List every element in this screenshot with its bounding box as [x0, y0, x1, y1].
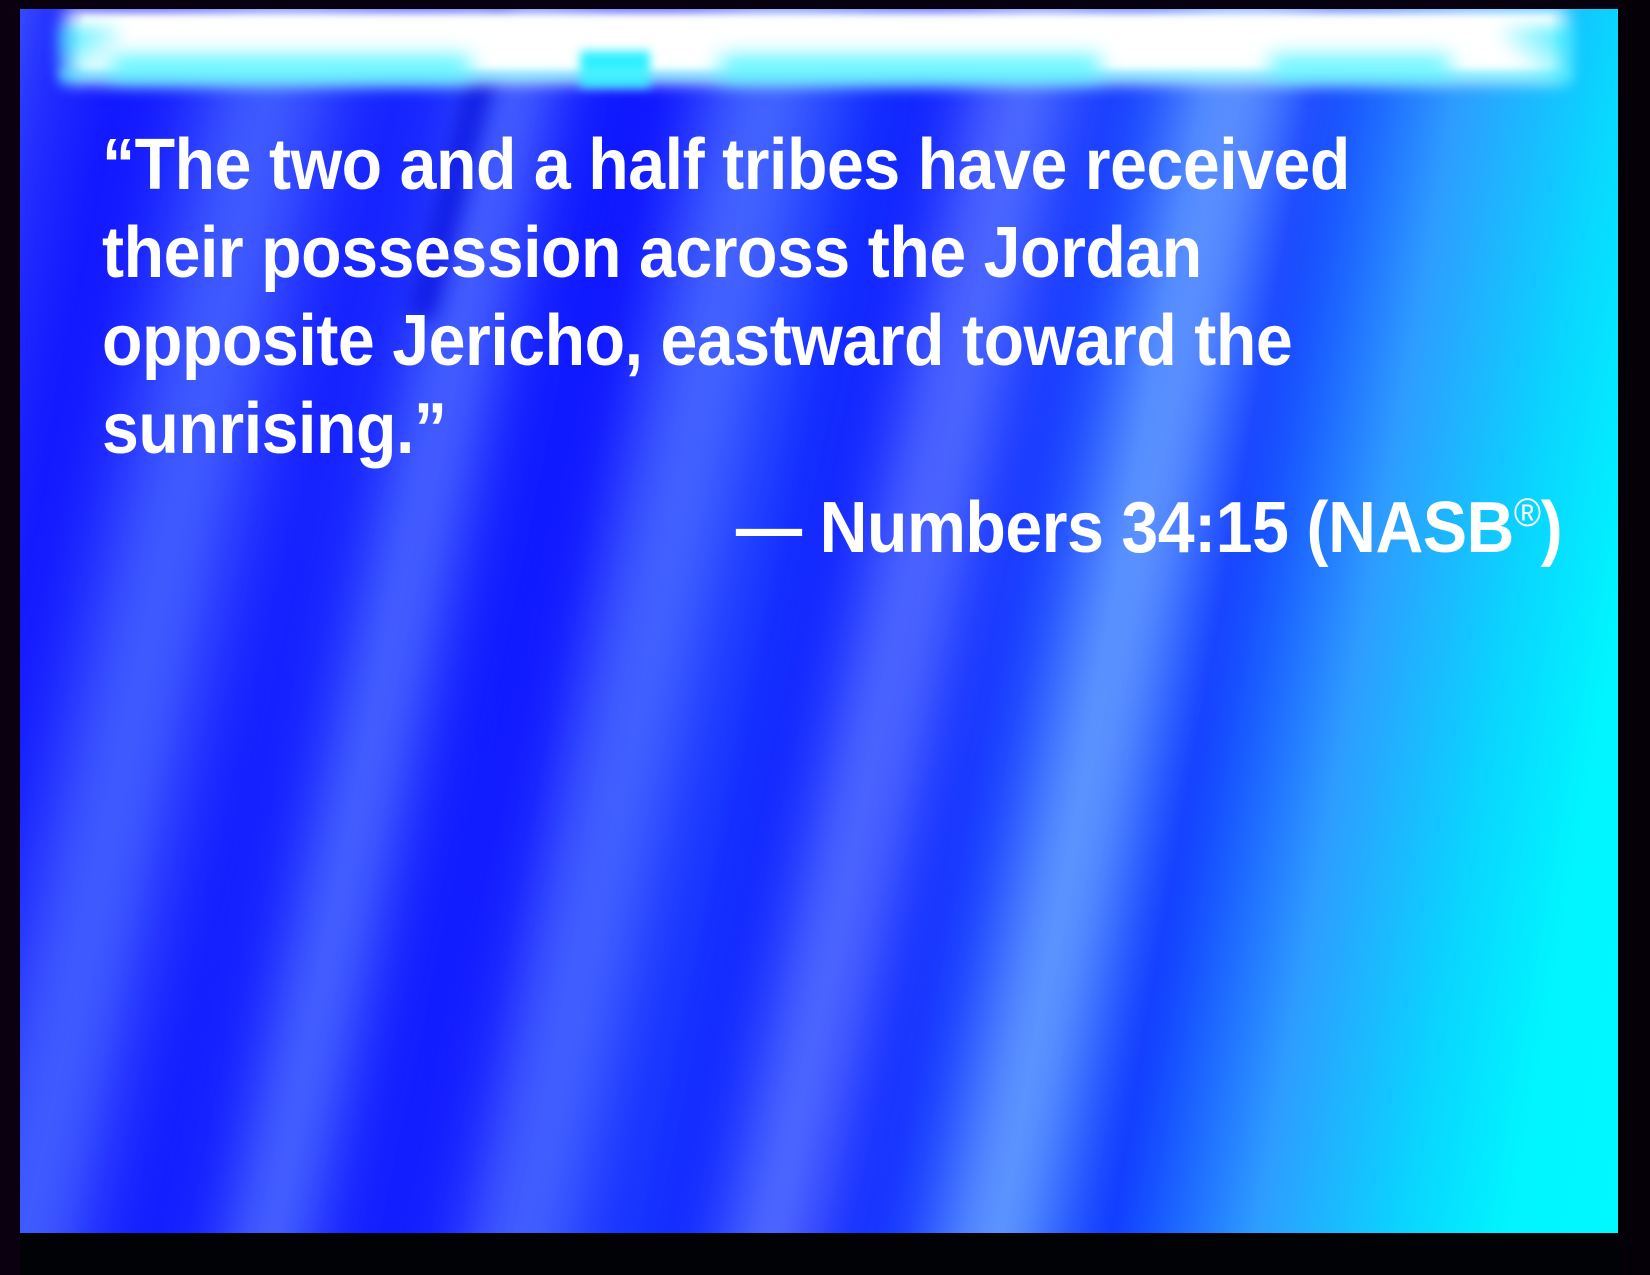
glow-corner-left	[60, 27, 120, 85]
verse-slide: “The two and a half tribes have received…	[0, 0, 1650, 1275]
top-glow-bar-core	[82, 17, 1552, 69]
frame-edge-right	[1620, 0, 1650, 1275]
light-streak	[104, 9, 679, 1233]
verse-line-1: “The two and a half tribes have received	[102, 121, 1445, 209]
cyan-glow-patch	[720, 57, 1100, 79]
light-streak	[20, 9, 128, 1233]
gradient-background: “The two and a half tribes have received…	[20, 9, 1618, 1233]
verse-citation-block: — Numbers 34:15 (NASB®)	[102, 469, 1562, 572]
citation-main-text: — Numbers 34:15 (NASB	[736, 488, 1514, 568]
verse-citation: — Numbers 34:15 (NASB®)	[736, 469, 1562, 572]
light-streak	[804, 9, 1428, 1233]
verse-line-4: sunrising.”	[102, 385, 1445, 473]
cyan-glow-patch	[110, 57, 470, 79]
dark-diagonal-band	[399, 9, 536, 323]
light-streak	[20, 9, 478, 1233]
top-glow-bar	[66, 9, 1566, 81]
frame-edge-top	[0, 0, 1650, 9]
frame-edge-left	[0, 0, 20, 1275]
light-streak	[325, 9, 958, 1233]
verse-text-block: “The two and a half tribes have received…	[102, 121, 1562, 473]
cyan-fringe	[60, 71, 1570, 87]
registered-trademark-icon: ®	[1514, 491, 1541, 535]
dark-diagonal-band	[20, 9, 47, 996]
light-streak	[594, 9, 1198, 1233]
glow-corner-right	[1502, 27, 1572, 87]
frame-edge-bottom	[0, 1233, 1650, 1275]
cyan-glow-patch	[1270, 57, 1450, 77]
verse-line-2: their possession across the Jordan	[102, 209, 1445, 297]
citation-close-paren: )	[1540, 488, 1562, 568]
cyan-glow-notch	[580, 51, 650, 87]
verse-line-3: opposite Jericho, eastward toward the	[102, 297, 1445, 385]
